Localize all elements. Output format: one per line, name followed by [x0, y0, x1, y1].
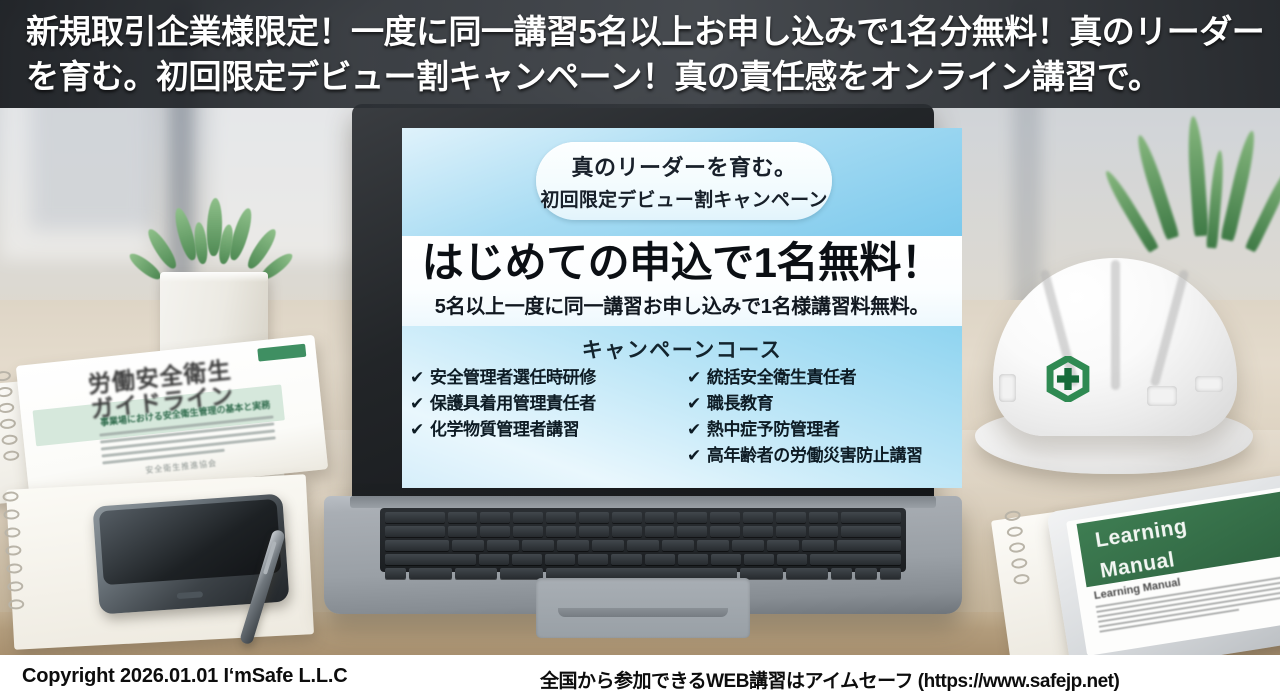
check-icon: ✔: [687, 446, 701, 465]
course-item: ✔ 保護具着用管理責任者: [410, 394, 677, 413]
laptop-screen[interactable]: 真のリーダーを育む。 初回限定デビュー割キャンペーン はじめての申込で1名無料！…: [402, 128, 962, 488]
safety-helmet: [975, 258, 1253, 476]
course-item: ✔ 統括安全衛生責任者: [687, 368, 954, 387]
course-item: ✔ 化学物質管理者講習: [410, 420, 677, 439]
laptop: 真のリーダーを育む。 初回限定デビュー割キャンペーン はじめての申込で1名無料！…: [318, 104, 968, 639]
course-item: ✔ 高年齢者の労働災害防止講習: [687, 446, 954, 465]
course-item: ✔ 安全管理者選任時研修: [410, 368, 677, 387]
laptop-hinge: [350, 496, 936, 508]
check-icon: ✔: [687, 420, 701, 439]
learning-manual-header: Learning Manual: [1077, 490, 1280, 587]
course-label: 統括安全衛生責任者: [707, 368, 856, 387]
laptop-base-lip: [558, 608, 728, 617]
banner-image: 労働安全衛生 ガイドライン 事業場における安全衛生管理の基本と実務 安全衛生推進…: [0, 0, 1280, 698]
copyright-text: Copyright 2026.01.01 I‘mSafe L.L.C: [22, 665, 348, 688]
tablet-screen[interactable]: Learning Manual Learning Manual: [1066, 486, 1280, 655]
pill-line-1: 真のリーダーを育む。: [571, 150, 796, 182]
screen-subline: 5名以上一度に同一講習お申し込みで1名様講習料無料。: [402, 290, 962, 319]
course-label: 高年齢者の労働災害防止講習: [707, 446, 923, 465]
course-item: ✔ 熱中症予防管理者: [687, 420, 954, 439]
footer-tagline: 全国から参加できるWEB講習はアイムセーフ (https://www.safej…: [540, 666, 1119, 693]
course-columns: ✔ 安全管理者選任時研修 ✔ 保護具着用管理責任者 ✔ 化学物質管理者講習: [410, 368, 954, 472]
course-column-right: ✔ 統括安全衛生責任者 ✔ 職長教育 ✔ 熱中症予防管理者: [687, 368, 954, 472]
keyboard-row: [385, 512, 901, 523]
course-label: 安全管理者選任時研修: [430, 368, 596, 387]
phone-port: [177, 591, 203, 599]
check-icon: ✔: [410, 420, 424, 439]
course-item: ✔ 職長教育: [687, 394, 954, 413]
headline-line-2: を育む。初回限定デビュー割キャンペーン！真の責任感をオンライン講習で。: [26, 54, 1254, 99]
course-label: 熱中症予防管理者: [707, 420, 840, 439]
helmet-shell: [993, 258, 1237, 436]
check-icon: ✔: [410, 368, 424, 387]
course-label: 保護具着用管理責任者: [430, 394, 596, 413]
campaign-pill: 真のリーダーを育む。 初回限定デビュー割キャンペーン: [536, 142, 832, 220]
laptop-lid: 真のリーダーを育む。 初回限定デビュー割キャンペーン はじめての申込で1名無料！…: [352, 104, 934, 510]
keyboard-row: [385, 554, 901, 565]
footer-bar: Copyright 2026.01.01 I‘mSafe L.L.C 全国から参…: [0, 655, 1280, 698]
keyboard-row: [385, 540, 901, 551]
check-icon: ✔: [687, 394, 701, 413]
safety-cross-hexagon-icon: [1045, 356, 1091, 402]
course-column-left: ✔ 安全管理者選任時研修 ✔ 保護具着用管理責任者 ✔ 化学物質管理者講習: [410, 368, 677, 472]
check-icon: ✔: [687, 368, 701, 387]
laptop-keyboard[interactable]: [380, 508, 906, 572]
pill-line-2: 初回限定デビュー割キャンペーン: [540, 185, 827, 212]
background-plant: [1140, 110, 1280, 280]
keyboard-row: [385, 526, 901, 537]
check-icon: ✔: [410, 394, 424, 413]
courses-title: キャンペーンコース: [402, 334, 962, 364]
screen-headline: はじめての申込で1名無料！: [402, 238, 962, 288]
headline-line-1: 新規取引企業様限定！一度に同一講習5名以上お申し込みで1名分無料！真のリーダー: [26, 9, 1254, 54]
top-headline-band: 新規取引企業様限定！一度に同一講習5名以上お申し込みで1名分無料！真のリーダー …: [0, 0, 1280, 108]
course-label: 職長教育: [707, 394, 773, 413]
course-label: 化学物質管理者講習: [430, 420, 579, 439]
